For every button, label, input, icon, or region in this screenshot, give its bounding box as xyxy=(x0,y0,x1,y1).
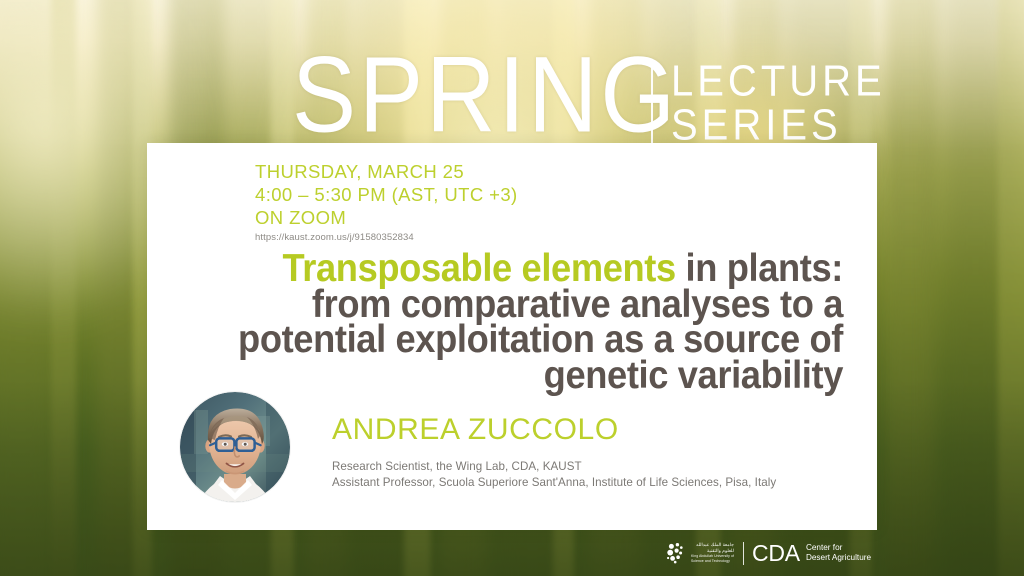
talk-title: Transposable elements in plants: from co… xyxy=(203,251,843,393)
zoom-link[interactable]: https://kaust.zoom.us/j/91580352834 xyxy=(255,232,518,243)
speaker-affiliation-2: Assistant Professor, Scuola Superiore Sa… xyxy=(332,475,776,491)
footer-logo-lockup: جامعة الملك عبدالله للعلوم والتقنية King… xyxy=(666,538,871,568)
headshot-illustration xyxy=(180,392,290,502)
event-details: THURSDAY, MARCH 25 4:00 – 5:30 PM (AST, … xyxy=(255,160,518,243)
speaker-photo xyxy=(180,392,290,502)
poster-header: SPRING LECTURE SERIES xyxy=(0,0,1024,150)
lecture-word: LECTURE xyxy=(671,60,886,104)
kaust-wordmark: جامعة الملك عبدالله للعلوم والتقنية King… xyxy=(691,541,734,565)
speaker-affiliation-1: Research Scientist, the Wing Lab, CDA, K… xyxy=(332,459,776,475)
speaker-name: ANDREA ZUCCOLO xyxy=(332,414,776,446)
kaust-english-line-2: Science and Technology xyxy=(691,559,734,563)
event-card: THURSDAY, MARCH 25 4:00 – 5:30 PM (AST, … xyxy=(147,143,877,530)
logo-separator xyxy=(743,542,744,565)
event-date: THURSDAY, MARCH 25 xyxy=(255,160,518,183)
series-season-title: SPRING xyxy=(292,42,678,150)
kaust-arabic-line-2: للعلوم والتقنية xyxy=(691,548,734,553)
kaust-seal-icon xyxy=(666,542,686,564)
kaust-english-line-1: King Abdullah University of xyxy=(691,554,734,558)
cda-full-line-2: Desert Agriculture xyxy=(806,553,871,563)
event-platform: ON ZOOM xyxy=(255,206,518,229)
cda-full-line-1: Center for xyxy=(806,543,871,553)
cda-abbreviation: CDA xyxy=(752,542,800,565)
speaker-text: ANDREA ZUCCOLO Research Scientist, the W… xyxy=(332,414,776,491)
series-word: SERIES xyxy=(671,104,886,148)
cda-full-name: Center for Desert Agriculture xyxy=(806,543,871,562)
header-divider xyxy=(651,68,653,144)
lecture-series-label: LECTURE SERIES xyxy=(671,60,886,145)
event-time: 4:00 – 5:30 PM (AST, UTC +3) xyxy=(255,183,518,206)
